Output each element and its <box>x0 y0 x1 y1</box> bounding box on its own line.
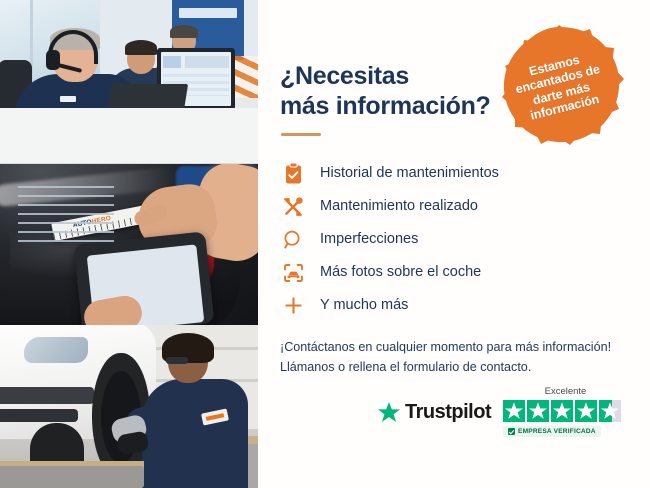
car-grille-upper <box>0 387 94 404</box>
feature-item-much-more: Y mucho más <box>280 289 580 322</box>
agent-back-hair <box>170 25 198 38</box>
paragraph-line-2: Llámanos o rellena el formulario de cont… <box>280 360 531 374</box>
plus-icon <box>280 295 306 317</box>
feature-item-imperfections: Imperfecciones <box>280 223 580 256</box>
star-rating <box>503 400 628 422</box>
photo-column: AUTOHERO <box>0 0 258 488</box>
trustpilot-block[interactable]: Trustpilot Excelente <box>378 387 628 449</box>
star-2 <box>527 400 549 422</box>
headline-line-2: más información? <box>280 92 491 120</box>
content-panel: ¿Necesitas más información? Estamos enca… <box>258 0 650 488</box>
star-1 <box>503 400 525 422</box>
front-desk <box>0 108 258 164</box>
headline-line-1: ¿Necesitas <box>280 62 409 90</box>
photo-call-center-agents-headsets <box>0 0 258 164</box>
feature-label: Imperfecciones <box>320 232 418 247</box>
page-title: ¿Necesitas más información? <box>280 61 520 121</box>
feature-item-more-photos: Más fotos sobre el coche <box>280 256 580 289</box>
star-5-partial <box>599 400 621 422</box>
monitor-toolbar <box>163 56 229 68</box>
car-headlight <box>24 337 88 363</box>
car-lift-arm <box>0 466 144 488</box>
agent-mid-hair <box>125 40 157 55</box>
rating-label: Excelente <box>503 387 628 397</box>
clipboard-check-icon <box>280 163 306 185</box>
photo-inspection-ruler-tablet: AUTOHERO <box>0 164 258 325</box>
headset-icon <box>489 33 514 54</box>
feature-item-maintenance-history: Historial de mantenimientos <box>280 157 580 190</box>
feature-label: Mantenimiento realizado <box>320 199 478 214</box>
trustpilot-logo[interactable]: Trustpilot <box>378 401 491 424</box>
badge-text: Estamos encantados de darte más informac… <box>502 46 617 127</box>
feature-label: Historial de mantenimientos <box>320 166 499 181</box>
verified-check-icon <box>508 428 515 435</box>
tools-cross-icon <box>280 196 306 218</box>
verified-label: EMPRESA VERIFICADA <box>518 428 596 435</box>
title-underline-rule <box>281 133 321 136</box>
tablet-screen-rows <box>18 186 114 244</box>
info-promo-card: AUTOHERO <box>0 0 650 488</box>
trustpilot-rating: Excelente <box>503 387 628 440</box>
feature-item-maintenance-done: Mantenimiento realizado <box>280 190 580 223</box>
feature-label: Y mucho más <box>320 298 408 313</box>
magnifier-icon <box>280 229 306 251</box>
photo-mechanic-white-car-lift <box>0 325 258 488</box>
employee-name-tag <box>60 96 76 102</box>
paragraph-line-1: ¡Contáctanos en cualquier momento para m… <box>280 340 611 354</box>
feature-list: Historial de mantenimientos Mantenimient… <box>280 157 580 322</box>
feature-label: Más fotos sobre el coche <box>320 265 481 280</box>
star-4 <box>575 400 597 422</box>
car-grille-lower <box>0 409 78 422</box>
verified-company-badge: EMPRESA VERIFICADA <box>503 426 601 437</box>
mechanic-safety-glasses <box>166 357 188 364</box>
promo-badge: Estamos encantados de darte más informac… <box>495 23 624 150</box>
contact-paragraph: ¡Contáctanos en cualquier momento para m… <box>280 337 640 378</box>
trustpilot-star-icon <box>378 402 400 423</box>
star-3 <box>551 400 573 422</box>
trustpilot-wordmark: Trustpilot <box>405 401 491 424</box>
car-photo-frame-icon <box>280 262 306 284</box>
